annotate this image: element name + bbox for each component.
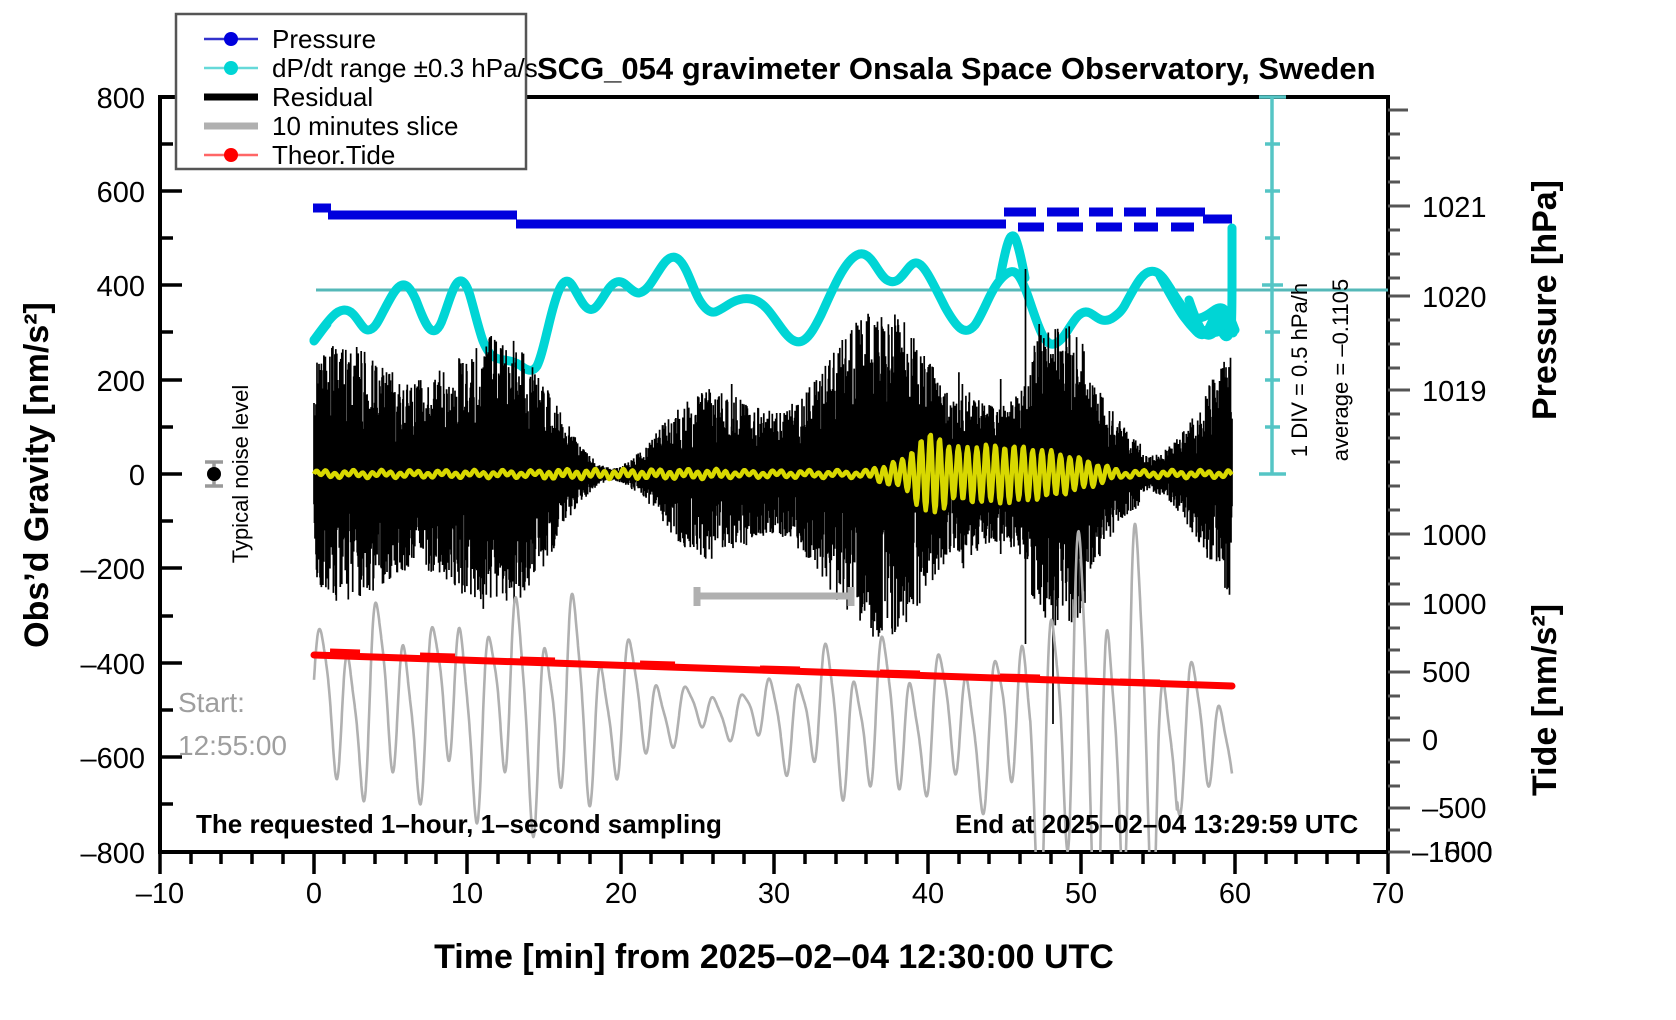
ytick-label: 800 bbox=[97, 83, 145, 115]
pressure-tick-label: 1000 bbox=[1422, 520, 1487, 552]
pressure-tick-label: 1019 bbox=[1422, 376, 1487, 408]
pressure-tick-label: 1020 bbox=[1422, 282, 1487, 314]
tide-tick-label: 500 bbox=[1422, 657, 1470, 689]
right-axis-pressure-title: Pressure [hPa] bbox=[1526, 180, 1564, 420]
xtick-label: –10 bbox=[136, 878, 184, 910]
ytick-label: –400 bbox=[80, 649, 145, 681]
legend-label: Residual bbox=[272, 82, 373, 112]
tide-tick-label: 0 bbox=[1422, 725, 1438, 757]
ytick-label: 400 bbox=[97, 271, 145, 303]
xtick-label: 40 bbox=[912, 878, 944, 910]
xtick-label: 60 bbox=[1219, 878, 1251, 910]
tide-tick-label: –500 bbox=[1422, 793, 1487, 825]
ytick-label: –200 bbox=[80, 554, 145, 586]
start-time: 12:55:00 bbox=[178, 730, 287, 761]
chart-title: SCG_054 gravimeter Onsala Space Observat… bbox=[537, 51, 1376, 86]
legend-dot-icon bbox=[224, 32, 238, 46]
x-axis-title: Time [min] from 2025–02–04 12:30:00 UTC bbox=[434, 938, 1114, 976]
legend-dot-icon bbox=[224, 148, 238, 162]
legend-label: 10 minutes slice bbox=[272, 111, 458, 141]
ytick-label: 600 bbox=[97, 177, 145, 209]
y-axis-title: Obs’d Gravity [nm/s²] bbox=[18, 302, 56, 648]
tide-tick-label: 1000 bbox=[1422, 589, 1487, 621]
legend-label: Theor.Tide bbox=[272, 140, 395, 170]
xtick-label: 0 bbox=[306, 878, 322, 910]
scale-average-label: average = –0.1105 bbox=[1328, 279, 1353, 461]
legend-dot-icon bbox=[224, 61, 238, 75]
legend-label: Pressure bbox=[272, 24, 376, 54]
ytick-label: –800 bbox=[80, 838, 145, 870]
xtick-label: 30 bbox=[758, 878, 790, 910]
right-axis-tide-title: Tide [nm/s²] bbox=[1526, 604, 1564, 796]
xtick-label: 10 bbox=[451, 878, 483, 910]
ytick-label: 0 bbox=[129, 460, 145, 492]
gravimeter-chart: 800 600 400 200 0 –200 –400 –600 –800 Ob… bbox=[0, 0, 1676, 1020]
footer-left: The requested 1–hour, 1–second sampling bbox=[196, 809, 722, 839]
start-label: Start: bbox=[178, 687, 245, 718]
xtick-label: 20 bbox=[605, 878, 637, 910]
tide-tick-label-last: –1500 bbox=[1412, 837, 1493, 869]
pressure-tick-label: 1021 bbox=[1422, 192, 1487, 224]
ytick-label: –600 bbox=[80, 743, 145, 775]
scale-div-label: 1 DIV = 0.5 hPa/h bbox=[1287, 283, 1312, 457]
footer-right: End at 2025–02–04 13:29:59 UTC bbox=[955, 809, 1358, 839]
xtick-label: 50 bbox=[1065, 878, 1097, 910]
legend-label: dP/dt range ±0.3 hPa/s bbox=[272, 53, 538, 83]
chart-root: 800 600 400 200 0 –200 –400 –600 –800 Ob… bbox=[0, 0, 1676, 1020]
legend: Pressure dP/dt range ±0.3 hPa/s Residual… bbox=[176, 14, 538, 170]
xtick-label: 70 bbox=[1372, 878, 1404, 910]
noise-level-label: Typical noise level bbox=[228, 385, 253, 564]
ytick-label: 200 bbox=[97, 366, 145, 398]
